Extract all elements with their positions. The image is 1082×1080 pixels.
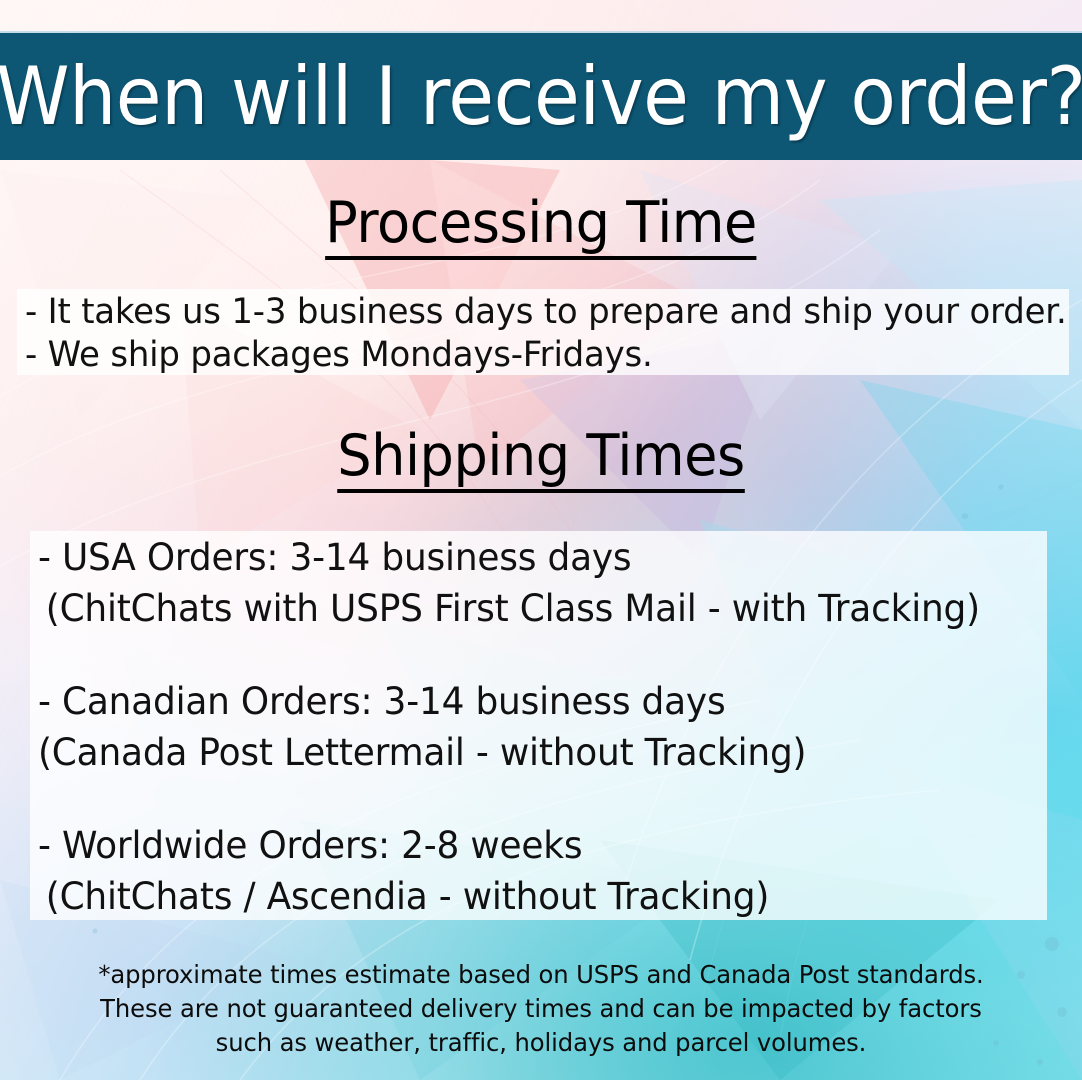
processing-line: - We ship packages Mondays-Fridays. [25, 334, 1067, 377]
shipping-times-list: - USA Orders: 3-14 business days (ChitCh… [38, 532, 980, 922]
processing-time-heading: Processing Time [325, 195, 757, 260]
shipping-detail-line: (Canada Post Lettermail - without Tracki… [38, 727, 980, 778]
footnote-line: *approximate times estimate based on USP… [16, 958, 1066, 992]
shipping-detail-line: (ChitChats / Ascendia - without Tracking… [38, 871, 980, 922]
footnote: *approximate times estimate based on USP… [0, 958, 1082, 1060]
shipping-main-line: - Worldwide Orders: 2-8 weeks [38, 820, 980, 871]
shipping-group-canada: - Canadian Orders: 3-14 business days (C… [38, 676, 980, 778]
page-title: When will I receive my order? [0, 57, 1082, 137]
footnote-line: such as weather, traffic, holidays and p… [16, 1026, 1066, 1060]
shipping-group-worldwide: - Worldwide Orders: 2-8 weeks (ChitChats… [38, 820, 980, 922]
shipping-main-line: - Canadian Orders: 3-14 business days [38, 676, 980, 727]
processing-line: - It takes us 1-3 business days to prepa… [25, 291, 1067, 334]
shipping-detail-line: (ChitChats with USPS First Class Mail - … [38, 583, 980, 634]
shipping-group-usa: - USA Orders: 3-14 business days (ChitCh… [38, 532, 980, 634]
footnote-line: These are not guaranteed delivery times … [16, 992, 1066, 1026]
shipping-info-poster: When will I receive my order? Processing… [0, 0, 1082, 1080]
shipping-main-line: - USA Orders: 3-14 business days [38, 532, 980, 583]
shipping-times-heading: Shipping Times [337, 428, 745, 493]
processing-time-list: - It takes us 1-3 business days to prepa… [25, 291, 1067, 377]
header-banner: When will I receive my order? [0, 33, 1082, 160]
